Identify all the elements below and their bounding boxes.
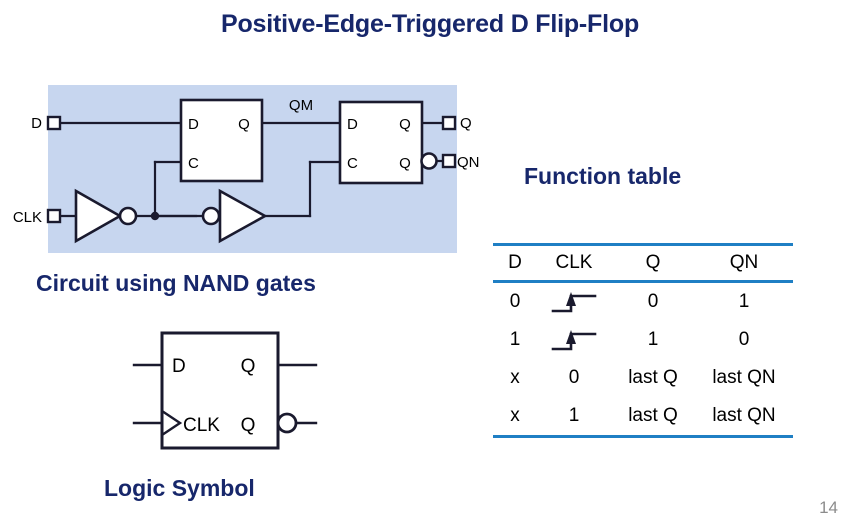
table-row: x 0 last Q last QN: [493, 359, 793, 397]
net-label-qm: QM: [289, 97, 313, 114]
clk-inverter-2-input-bubble: [203, 208, 219, 224]
port-label-q: Q: [460, 115, 472, 132]
cell-d: x: [493, 359, 537, 397]
port-label-clk: CLK: [13, 209, 42, 226]
symbol-pin-clk: CLK: [183, 415, 220, 436]
column-header-q: Q: [611, 245, 695, 282]
port-label-qn: QN: [457, 154, 480, 171]
wire-junction-dot: [151, 212, 159, 220]
cell-q: last Q: [611, 397, 695, 437]
symbol-pin-qn: Q: [241, 415, 256, 436]
page-title: Positive-Edge-Triggered D Flip-Flop: [0, 10, 860, 39]
logic-symbol-box: [162, 333, 278, 448]
terminal-clk: [48, 210, 60, 222]
slave-latch-pin-c: C: [347, 155, 358, 172]
clk-inverter-1-output-bubble: [120, 208, 136, 224]
slave-latch-pin-d: D: [347, 116, 358, 133]
cell-q: last Q: [611, 359, 695, 397]
symbol-pin-q: Q: [241, 356, 256, 377]
port-label-d: D: [31, 115, 42, 132]
circuit-diagram: D Q C D Q C Q QM D CLK Q QN: [0, 78, 480, 263]
cell-qn: 0: [695, 321, 793, 359]
cell-d: x: [493, 397, 537, 437]
master-latch-pin-c: C: [188, 155, 199, 172]
cell-d: 0: [493, 282, 537, 322]
caption-function-table: Function table: [524, 163, 681, 190]
function-table: D CLK Q QN 0 0 1 1: [493, 243, 793, 438]
table-row: 1 1 0: [493, 321, 793, 359]
cell-clk: 0: [537, 359, 611, 397]
cell-qn: 1: [695, 282, 793, 322]
cell-d: 1: [493, 321, 537, 359]
caption-circuit: Circuit using NAND gates: [36, 270, 316, 297]
symbol-pin-d: D: [172, 356, 186, 377]
column-header-clk: CLK: [537, 245, 611, 282]
cell-q: 1: [611, 321, 695, 359]
cell-clk-rising-edge-icon: [537, 321, 611, 359]
cell-qn: last QN: [695, 397, 793, 437]
cell-clk-rising-edge-icon: [537, 282, 611, 322]
logic-symbol-diagram: D CLK Q Q: [120, 325, 350, 460]
caption-logic-symbol: Logic Symbol: [104, 475, 255, 502]
table-row: 0 0 1: [493, 282, 793, 322]
cell-q: 0: [611, 282, 695, 322]
terminal-d: [48, 117, 60, 129]
master-latch-pin-d: D: [188, 116, 199, 133]
terminal-qn: [443, 155, 455, 167]
cell-qn: last QN: [695, 359, 793, 397]
cell-clk: 1: [537, 397, 611, 437]
column-header-qn: QN: [695, 245, 793, 282]
page-number: 14: [819, 498, 838, 518]
terminal-q: [443, 117, 455, 129]
slave-latch-pin-qn: Q: [399, 155, 411, 172]
table-header-row: D CLK Q QN: [493, 245, 793, 282]
table-row: x 1 last Q last QN: [493, 397, 793, 437]
slave-latch-qn-bubble: [422, 154, 437, 169]
symbol-qn-bubble: [278, 414, 296, 432]
slave-latch-pin-q: Q: [399, 116, 411, 133]
master-latch-pin-q: Q: [238, 116, 250, 133]
column-header-d: D: [493, 245, 537, 282]
